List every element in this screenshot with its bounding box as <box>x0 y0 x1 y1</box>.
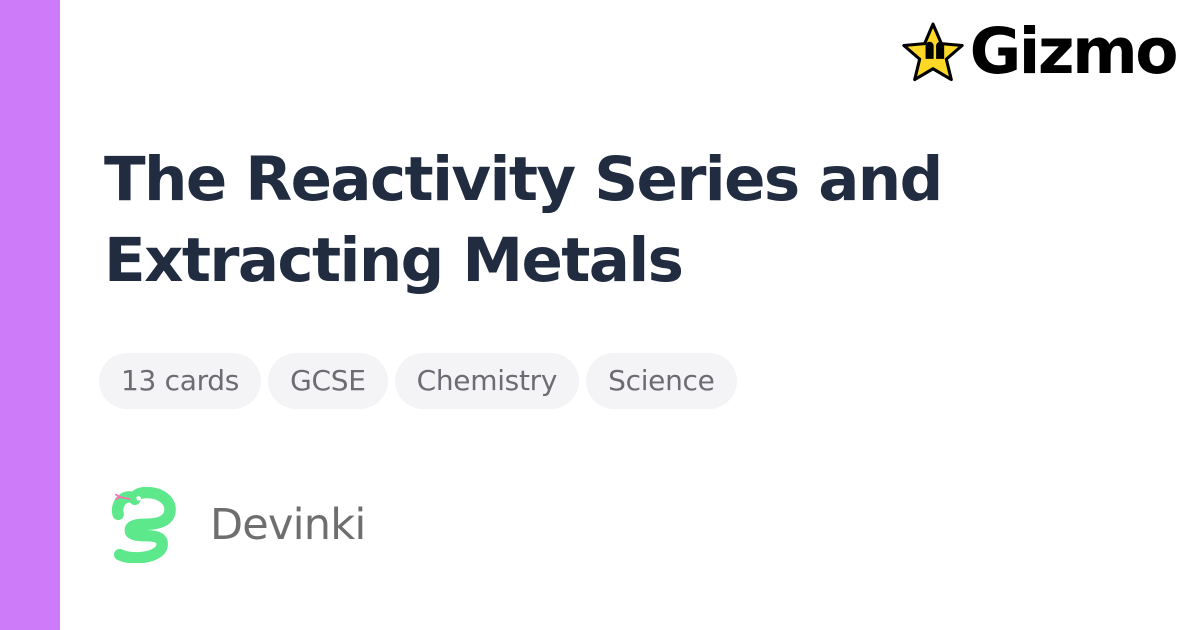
deck-meta-pills: 13 cards GCSE Chemistry Science <box>99 353 1104 409</box>
page-title: The Reactivity Series and Extracting Met… <box>104 140 1034 301</box>
meta-pill-card-count: 13 cards <box>99 353 261 409</box>
accent-stripe <box>0 0 60 630</box>
share-card-page: Gizmo The Reactivity Series and Extracti… <box>0 0 1200 630</box>
meta-pill-category: Science <box>586 353 736 409</box>
author-name: Devinki <box>210 504 365 547</box>
brand-name: Gizmo <box>970 20 1176 83</box>
star-icon <box>902 21 964 83</box>
snake-avatar-icon <box>106 487 182 563</box>
meta-pill-level: GCSE <box>268 353 388 409</box>
card-content: The Reactivity Series and Extracting Met… <box>104 140 1104 563</box>
meta-pill-subject: Chemistry <box>395 353 580 409</box>
brand-logo[interactable]: Gizmo <box>902 20 1176 83</box>
author-row: Devinki <box>106 487 1104 563</box>
